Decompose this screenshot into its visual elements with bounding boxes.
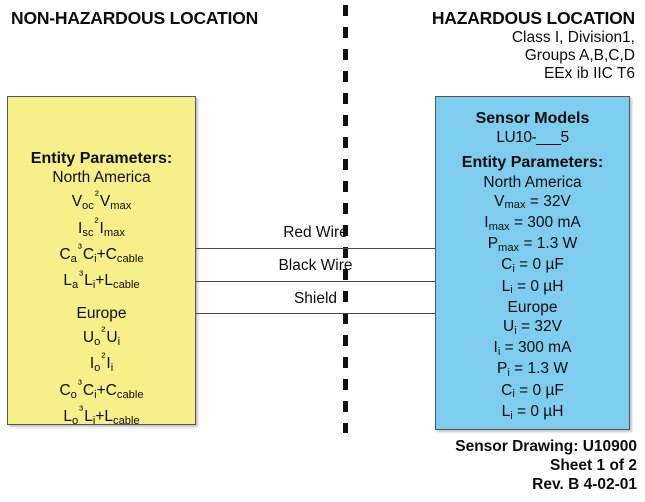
wire-label-red: Red Wire	[196, 224, 435, 242]
wire-label-black: Black Wire	[196, 257, 435, 275]
location-boundary-dashed-line	[343, 5, 348, 433]
nonhazardous-region-na: North America	[8, 168, 195, 187]
sensor-model-number: LU10-___5	[436, 128, 629, 147]
nonhazardous-eu-param-io: Io²Ii	[8, 349, 195, 375]
hazardous-class-division: Class I, Division1,	[395, 29, 642, 47]
wire-line-red	[196, 248, 435, 249]
wire-line-black	[196, 281, 435, 282]
sheet-number: Sheet 1 of 2	[380, 456, 637, 475]
hazardous-eu-ci: Ci = 0 µF	[436, 381, 629, 402]
nonhazardous-na-param-la: La³Li+Lcable	[8, 266, 195, 292]
nonhazardous-location-title: NON-HAZARDOUS LOCATION	[11, 8, 311, 29]
hazardous-na-ci: Ci = 0 µF	[436, 255, 629, 276]
nonhazardous-na-param-voc: Voc²Vmax	[8, 187, 195, 213]
hazardous-eu-pi: Pi = 1.3 W	[436, 359, 629, 380]
revision-date: Rev. B 4-02-01	[380, 475, 637, 494]
hazardous-na-imax: Imax = 300 mA	[436, 213, 629, 234]
hazardous-eu-ui: Ui = 32V	[436, 317, 629, 338]
hazardous-box-content: Sensor Models LU10-___5 Entity Parameter…	[436, 109, 629, 423]
hazardous-entity-box: Sensor Models LU10-___5 Entity Parameter…	[435, 96, 630, 430]
hazardous-location-title: HAZARDOUS LOCATION	[395, 8, 642, 29]
hazardous-region-eu: Europe	[436, 298, 629, 317]
nonhazardous-heading: Entity Parameters:	[8, 149, 195, 168]
hazardous-na-vmax: Vmax = 32V	[436, 192, 629, 213]
nonhazardous-eu-param-uo: Uo²Ui	[8, 323, 195, 349]
wire-line-shield	[196, 313, 435, 314]
hazardous-eu-li: Li = 0 µH	[436, 402, 629, 423]
nonhazardous-region-eu: Europe	[8, 304, 195, 323]
nonhazardous-eu-param-lo: Lo³Li+Lcable	[8, 402, 195, 428]
wire-label-shield: Shield	[196, 290, 435, 308]
hazardous-protection-code: EEx ib IIC T6	[395, 65, 642, 83]
hazardous-na-pmax: Pmax = 1.3 W	[436, 234, 629, 255]
hazardous-region-na: North America	[436, 173, 629, 192]
nonhazardous-na-param-ca: Ca³Ci+Ccable	[8, 240, 195, 266]
nonhazardous-eu-param-co: Co³Ci+Ccable	[8, 376, 195, 402]
nonhazardous-box-content: Entity Parameters: North America Voc²Vma…	[8, 149, 195, 428]
sensor-models-heading: Sensor Models	[436, 109, 629, 128]
drawing-number: Sensor Drawing: U10900	[380, 437, 637, 456]
diagram-canvas: NON-HAZARDOUS LOCATION HAZARDOUS LOCATIO…	[0, 0, 645, 502]
hazardous-na-li: Li = 0 µH	[436, 277, 629, 298]
nonhazardous-na-param-isc: Isc²Imax	[8, 214, 195, 240]
hazardous-heading: Entity Parameters:	[436, 153, 629, 172]
hazardous-groups: Groups A,B,C,D	[395, 47, 642, 65]
hazardous-eu-ii: Ii = 300 mA	[436, 338, 629, 359]
nonhazardous-entity-box: Entity Parameters: North America Voc²Vma…	[7, 96, 196, 425]
